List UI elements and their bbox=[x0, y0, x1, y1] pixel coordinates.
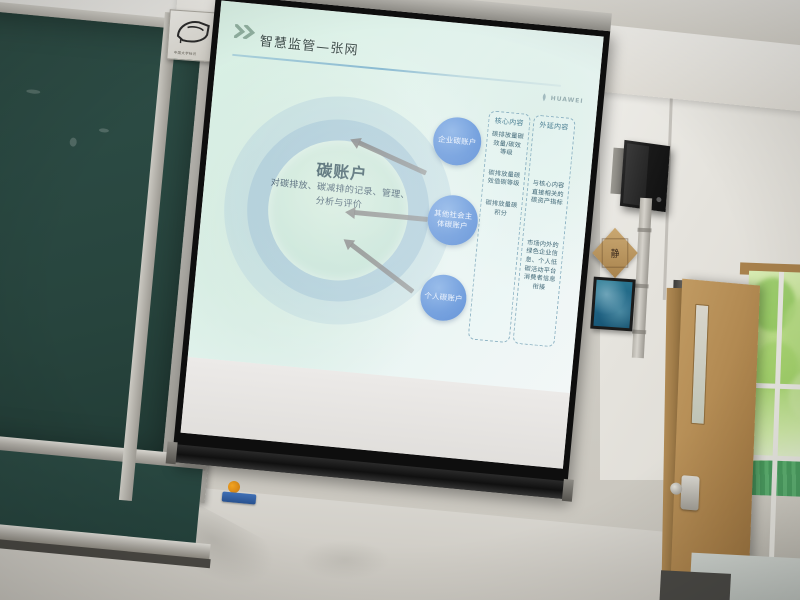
huawei-logo: HUAWEI bbox=[539, 93, 584, 105]
column-core-item: 碳排放量碳积分 bbox=[483, 199, 518, 219]
column-core-item: 碳排放量碳效值碳等级 bbox=[486, 169, 521, 189]
classroom-photo: 中国大学标识 智慧监管—张网 HUAWEI bbox=[0, 0, 800, 600]
column-extended-item: 与核心内容直接相关的碳资产指标 bbox=[530, 180, 566, 209]
slide-title: 智慧监管—张网 bbox=[259, 30, 360, 58]
column-extended-heading: 外延内容 bbox=[537, 120, 572, 133]
wall-smudge-secondary bbox=[300, 540, 390, 580]
door-glass-slot bbox=[691, 304, 710, 425]
huawei-wordmark: HUAWEI bbox=[550, 94, 584, 104]
column-core-heading: 核心内容 bbox=[492, 116, 527, 129]
door-handle[interactable] bbox=[680, 475, 699, 511]
column-extended-item: 市场内外的绿色企业信息、个人低碳活动平台消费者信息衔接 bbox=[521, 239, 560, 294]
screen-bar-end-right bbox=[562, 479, 574, 502]
speaker-grille bbox=[623, 143, 649, 206]
plaque-emblem-icon bbox=[173, 16, 215, 49]
diamond-plaque-text: 静 bbox=[602, 238, 629, 267]
wooden-door[interactable] bbox=[670, 279, 760, 600]
screen-surface: 智慧监管—张网 HUAWEI 碳账户 对碳排放、碳减排的记录、管理、分析与评价 bbox=[181, 1, 604, 469]
speaker-led bbox=[656, 197, 661, 203]
huawei-flower-icon bbox=[539, 93, 549, 102]
framed-picture bbox=[590, 277, 636, 332]
framed-picture-art bbox=[593, 280, 632, 328]
presentation-slide: 智慧监管—张网 HUAWEI 碳账户 对碳排放、碳减排的记录、管理、分析与评价 bbox=[188, 1, 604, 394]
screen-bar-end-left bbox=[166, 441, 178, 464]
floor-shadow bbox=[659, 570, 731, 600]
double-chevron-right-icon bbox=[234, 24, 261, 40]
slide-title-rule bbox=[232, 54, 561, 87]
projector-screen: 智慧监管—张网 HUAWEI 碳账户 对碳排放、碳减排的记录、管理、分析与评价 bbox=[172, 0, 610, 499]
plaque-subtitle: 中国大学标识 bbox=[174, 50, 197, 57]
column-core-item: 碳排放量碳效量/碳效等级 bbox=[489, 131, 525, 160]
